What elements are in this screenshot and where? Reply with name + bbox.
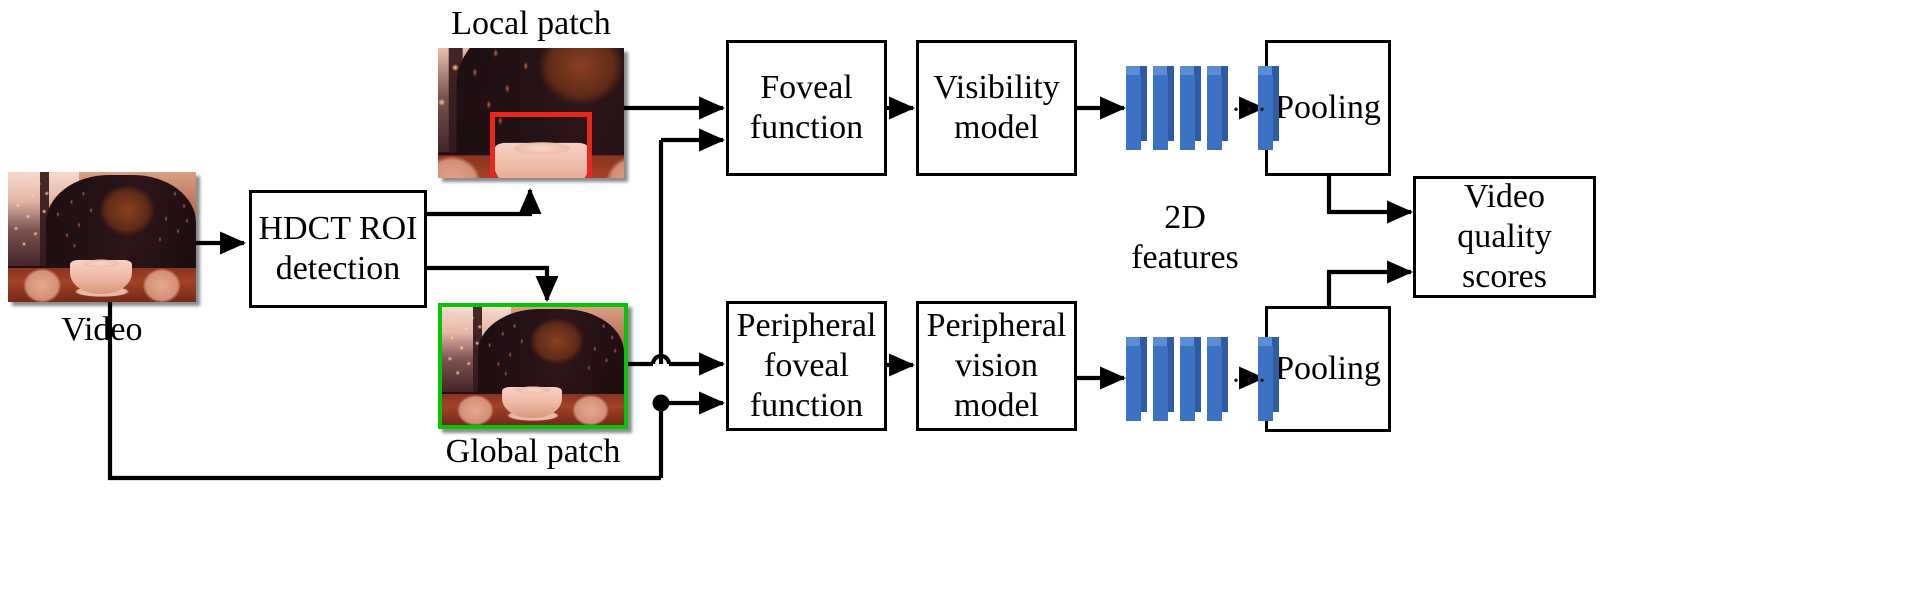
local-patch-thumbnail xyxy=(438,48,624,178)
box-pooling-bottom[interactable]: Pooling xyxy=(1265,306,1391,432)
feature-bars-bottom xyxy=(1126,337,1246,421)
feature-bar xyxy=(1126,337,1147,421)
box-visibility-model[interactable]: Visibility model xyxy=(916,40,1077,176)
feature-bar xyxy=(1180,337,1201,421)
box-hdct-roi-detection[interactable]: HDCT ROI detection xyxy=(249,190,427,308)
feature-bar xyxy=(1207,66,1228,150)
two-d-features-label: 2D features xyxy=(1090,198,1280,278)
box-video-quality-scores[interactable]: Video quality scores xyxy=(1413,176,1596,298)
edge-pooling-bottom-to-scores xyxy=(1329,272,1411,306)
video-label: Video xyxy=(8,310,196,350)
feature-bar xyxy=(1153,66,1174,150)
junction-dot-bypass xyxy=(653,395,670,412)
edge-pooling-top-to-scores xyxy=(1329,174,1411,212)
feature-bars-top xyxy=(1126,66,1246,150)
pipeline-diagram: Video Local patch xyxy=(0,0,1917,592)
box-peripheral-vision-model[interactable]: Peripheral vision model xyxy=(916,301,1077,431)
feature-bar xyxy=(1207,337,1228,421)
box-foveal-function[interactable]: Foveal function xyxy=(726,40,887,176)
feature-bar xyxy=(1180,66,1201,150)
video-thumbnail xyxy=(8,172,196,302)
edge-hdct-to-local-patch xyxy=(426,190,530,214)
box-pooling-top[interactable]: Pooling xyxy=(1265,40,1391,176)
feature-bars-bottom-ellipsis: ··· xyxy=(1231,366,1270,396)
feature-bars-top-ellipsis: ··· xyxy=(1231,95,1270,125)
edge-hdct-to-global-patch xyxy=(426,268,547,300)
box-peripheral-foveal-function[interactable]: Peripheral foveal function xyxy=(726,301,887,431)
global-patch-label: Global patch xyxy=(438,432,628,472)
global-patch-thumbnail xyxy=(438,303,628,429)
feature-bar xyxy=(1153,337,1174,421)
local-patch-label: Local patch xyxy=(438,4,624,44)
feature-bar xyxy=(1126,66,1147,150)
roi-bounding-box xyxy=(490,112,592,178)
